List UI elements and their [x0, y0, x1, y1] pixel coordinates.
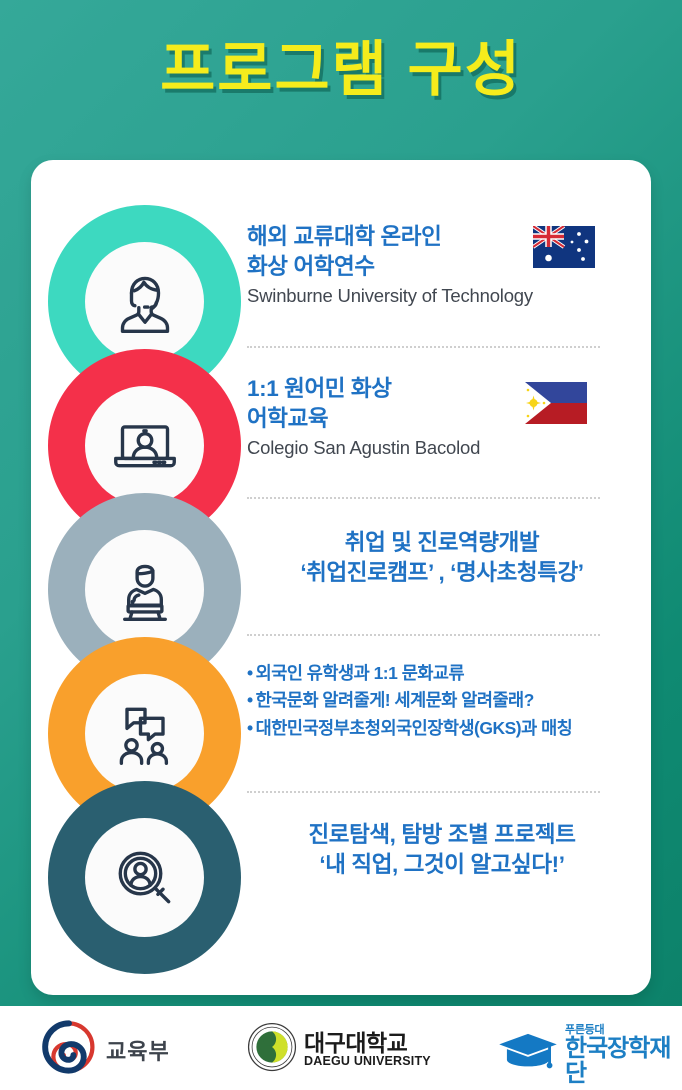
program-subtitle: Colegio San Agustin Bacolod: [247, 436, 647, 460]
program-heading-line-2: ‘취업진로캠프’ , ‘명사초청특강’: [247, 558, 637, 588]
program-row-4-text: •외국인 유학생과 1:1 문화교류 •한국문화 알려줄게! 세계문화 알려줄래…: [247, 660, 647, 742]
magnifier-person-icon: [109, 842, 181, 914]
taegeuk-icon: [42, 1020, 96, 1079]
footer-logo-bar: 교육부 대구대학교 DAEGU UNIVERSITY: [0, 1006, 682, 1090]
program-subtitle: Swinburne University of Technology: [247, 284, 647, 308]
headset-person-icon: [109, 266, 181, 338]
row-divider: [247, 346, 600, 350]
row-divider: [247, 791, 600, 795]
laptop-person-icon: [109, 410, 181, 482]
bullet-dot: •: [247, 663, 253, 683]
bullet-item: •외국인 유학생과 1:1 문화교류: [247, 660, 647, 687]
program-heading-line-1: 진로탐색, 탐방 조별 프로젝트: [247, 820, 637, 850]
bullet-dot: •: [247, 718, 253, 738]
row-divider: [247, 497, 600, 501]
page-title: 프로그램 구성: [160, 36, 522, 103]
bullet-item: •대한민국정부초청외국인장학생(GKS)과 매칭: [247, 715, 647, 742]
daegu-university-logo: 대구대학교 DAEGU UNIVERSITY: [247, 1022, 431, 1077]
program-heading-line-2: ‘내 직업, 그것이 알고싶다!’: [247, 850, 637, 880]
australia-flag: [533, 226, 595, 268]
bullet-item: •한국문화 알려줄게! 세계문화 알려줄래?: [247, 687, 647, 714]
title-area: 프로그램 구성: [0, 36, 682, 103]
ministry-of-education-label: 교육부: [106, 1034, 170, 1066]
bullet-label: 한국문화 알려줄게! 세계문화 알려줄래?: [256, 690, 534, 710]
korea-student-aid-foundation-logo: 푸른등대 한국장학재단: [497, 1024, 682, 1086]
program-heading-line-1: 취업 및 진로역량개발: [247, 528, 637, 558]
philippines-flag: [525, 382, 587, 424]
daegu-university-label-en: DAEGU UNIVERSITY: [304, 1055, 431, 1069]
program-step-chain: [48, 205, 248, 975]
step-ring-5: [48, 781, 241, 974]
daegu-seal-icon: [247, 1022, 297, 1077]
chat-people-icon: [109, 698, 181, 770]
daegu-university-labels: 대구대학교 DAEGU UNIVERSITY: [304, 1031, 431, 1069]
bullet-dot: •: [247, 690, 253, 710]
daegu-university-label-kr: 대구대학교: [304, 1031, 431, 1055]
row-divider: [247, 634, 600, 638]
podium-speaker-icon: [109, 554, 181, 626]
program-heading-line-1: 1:1 원어민 화상: [247, 374, 647, 404]
kosaf-labels: 푸른등대 한국장학재단: [565, 1024, 682, 1086]
kosaf-label-main: 한국장학재단: [565, 1036, 682, 1086]
bullet-label: 대한민국정부초청외국인장학생(GKS)과 매칭: [256, 718, 573, 738]
ministry-of-education-logo: 교육부: [42, 1020, 170, 1079]
program-heading-line-2: 어학교육: [247, 404, 647, 434]
program-row-3-text: 취업 및 진로역량개발 ‘취업진로캠프’ , ‘명사초청특강’: [247, 528, 637, 588]
program-row-5-text: 진로탐색, 탐방 조별 프로젝트 ‘내 직업, 그것이 알고싶다!’: [247, 820, 637, 880]
program-row-2-text: 1:1 원어민 화상 어학교육 Colegio San Agustin Baco…: [247, 374, 647, 460]
poster-root: 프로그램 구성: [0, 0, 682, 1090]
graduation-cap-icon: [497, 1030, 559, 1081]
bullet-label: 외국인 유학생과 1:1 문화교류: [256, 663, 464, 683]
